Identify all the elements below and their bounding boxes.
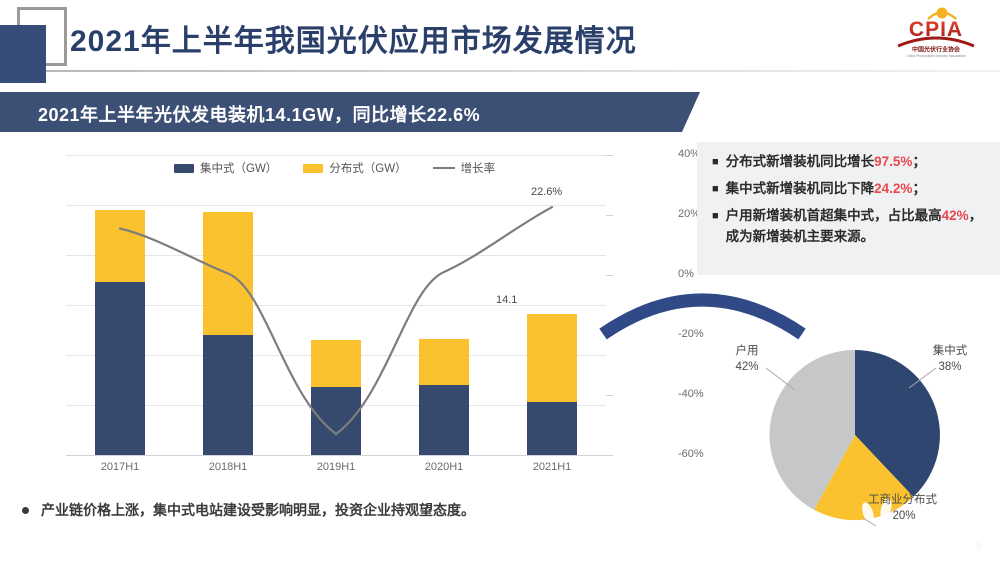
- page-title: 2021年上半年我国光伏应用市场发展情况: [70, 16, 637, 60]
- x-label-2021h1: 2021H1: [507, 461, 597, 473]
- bullet-highlight-value: 97.5%: [874, 154, 912, 169]
- bullet-text: 集中式新增装机同比下降24.2%；: [726, 179, 926, 200]
- page-number: 5: [976, 541, 982, 552]
- bottom-note-text: 产业链价格上涨，集中式电站建设受影响明显，投资企业持观望态度。: [41, 500, 475, 520]
- growth-rate-line: [66, 155, 606, 455]
- bullet-marker-icon: ■: [712, 179, 719, 200]
- chart-legend: 集中式（GW） 分布式（GW） 增长率: [174, 160, 495, 176]
- legend-label-distributed: 分布式（GW）: [329, 160, 406, 176]
- list-item: ■ 集中式新增装机同比下降24.2%；: [712, 179, 994, 200]
- highlights-bullet-list: ■ 分布式新增装机同比增长97.5%； ■ 集中式新增装机同比下降24.2%； …: [712, 152, 994, 254]
- legend-item-growth-rate: 增长率: [433, 160, 496, 176]
- connector-arc: [595, 272, 810, 342]
- list-item: ■ 户用新增装机首超集中式，占比最高42%，成为新增装机主要来源。: [712, 206, 994, 248]
- legend-label-growth-rate: 增长率: [461, 160, 496, 176]
- header-divider-rule: [46, 70, 1000, 72]
- legend-swatch-distributed: [303, 164, 323, 173]
- x-label-2019h1: 2019H1: [291, 461, 381, 473]
- bullet-marker-icon: ■: [712, 206, 719, 248]
- pie-label-centralized: 集中式 38%: [905, 344, 995, 375]
- plot-area: 30 25 20 15 10 5 0 40% 20% 0% -20% -40% …: [66, 155, 606, 455]
- bar-chart: 集中式（GW） 分布式（GW） 增长率 30 25 20 15 10 5 0: [4, 140, 688, 485]
- legend-item-centralized: 集中式（GW）: [174, 160, 277, 176]
- y2-tickmark-neg40: [606, 395, 613, 396]
- bullet-highlight-value: 42%: [942, 208, 969, 223]
- bottom-note: 产业链价格上涨，集中式电站建设受影响明显，投资企业持观望态度。: [22, 500, 475, 520]
- bullet-text: 户用新增装机首超集中式，占比最高42%，成为新增装机主要来源。: [726, 206, 994, 248]
- x-axis-line: [66, 455, 606, 456]
- legend-item-distributed: 分布式（GW）: [303, 160, 406, 176]
- logo-subtitle-en: China Photovoltaic Industry Association: [906, 54, 965, 58]
- cpia-logo: CPIA 中国光伏行业协会 China Photovoltaic Industr…: [884, 2, 988, 60]
- x-label-2018h1: 2018H1: [183, 461, 273, 473]
- list-item: ■ 分布式新增装机同比增长97.5%；: [712, 152, 994, 173]
- decor-square-filled: [0, 25, 46, 83]
- pie-label-commercial-distributed: 工商业分布式 20%: [868, 493, 978, 524]
- pie-label-residential: 户用 42%: [707, 344, 787, 375]
- y2-tickmark-neg60: [606, 455, 613, 456]
- x-label-2020h1: 2020H1: [399, 461, 489, 473]
- y2-tickmark-40: [606, 155, 613, 156]
- bullet-marker-icon: ■: [712, 152, 719, 173]
- y2-tickmark-20: [606, 215, 613, 216]
- bullet-text: 分布式新增装机同比增长97.5%；: [726, 152, 926, 173]
- data-label-total-2021h1: 14.1: [496, 294, 517, 306]
- legend-label-centralized: 集中式（GW）: [200, 160, 277, 176]
- logo-subtitle-cn: 中国光伏行业协会: [912, 46, 961, 54]
- x-label-2017h1: 2017H1: [75, 461, 165, 473]
- subtitle-banner-text: 2021年上半年光伏发电装机14.1GW，同比增长22.6%: [38, 101, 480, 127]
- bullet-dot-icon: [22, 507, 29, 514]
- legend-swatch-growth-rate: [433, 167, 455, 169]
- bullet-highlight-value: 24.2%: [874, 181, 912, 196]
- data-label-growth-2021h1: 22.6%: [531, 186, 562, 198]
- pie-chart: 集中式 38% 户用 42% 工商业分布式 20%: [700, 330, 1000, 550]
- legend-swatch-centralized: [174, 164, 194, 173]
